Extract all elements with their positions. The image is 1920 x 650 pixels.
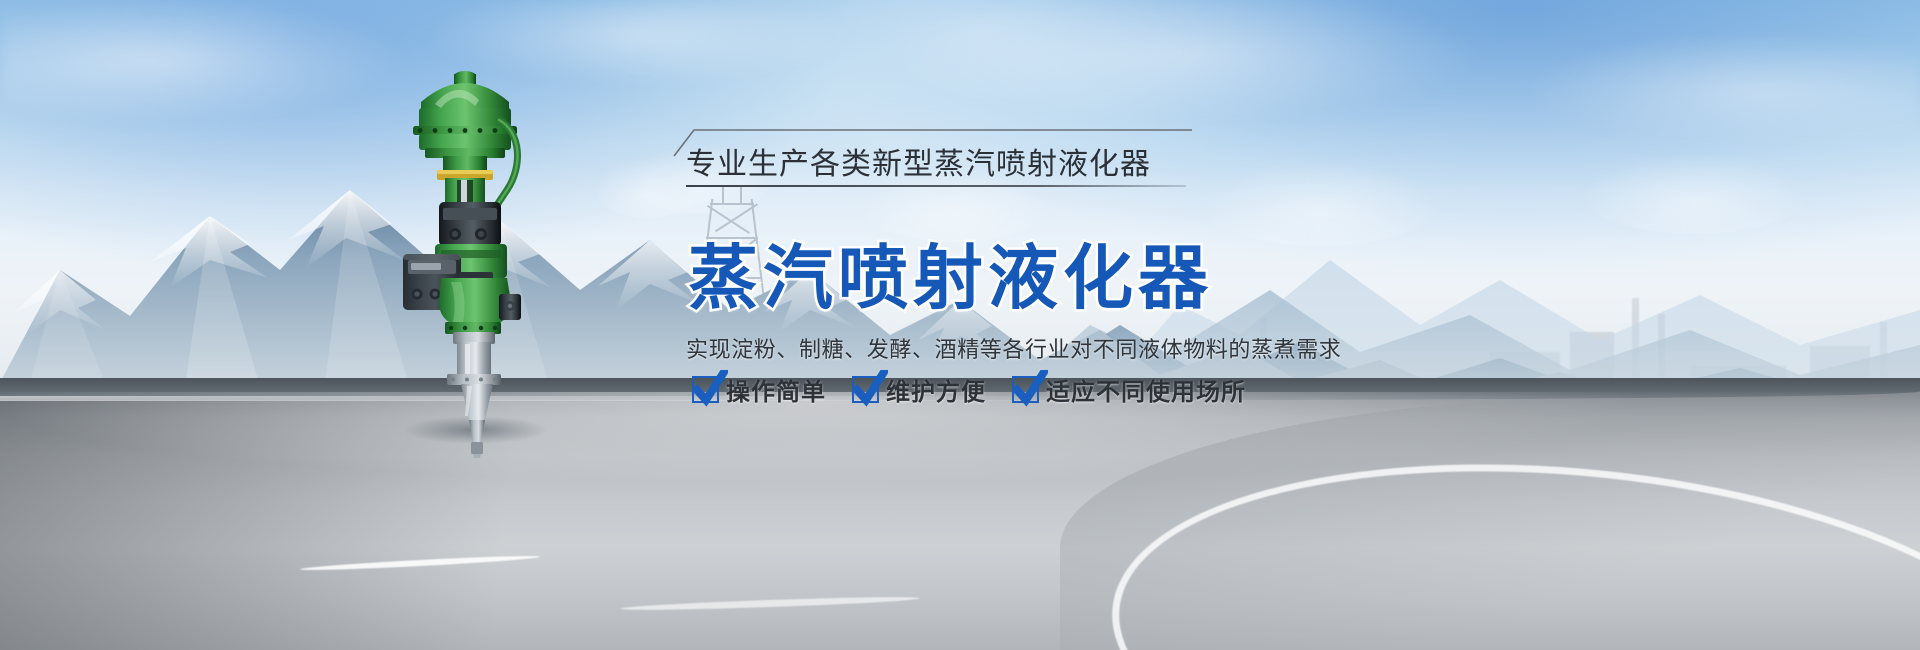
product-image-control-valve <box>395 58 585 458</box>
feature-item: 维护方便 <box>852 372 986 407</box>
check-icon <box>1012 376 1039 403</box>
banner-subtitle: 专业生产各类新型蒸汽喷射液化器 <box>686 139 1151 183</box>
feature-label: 适应不同使用场所 <box>1046 372 1246 407</box>
banner-description: 实现淀粉、制糖、发酵、酒精等各行业对不同液体物料的蒸煮需求 <box>686 332 1341 364</box>
feature-item: 适应不同使用场所 <box>1012 372 1246 407</box>
feature-label: 维护方便 <box>886 372 986 407</box>
check-icon <box>692 376 719 403</box>
check-icon <box>852 376 879 403</box>
feature-list: 操作简单 维护方便 适应不同使用场所 <box>692 372 1246 407</box>
title-divider <box>686 185 1186 187</box>
promo-banner: 专业生产各类新型蒸汽喷射液化器 蒸汽喷射液化器 实现淀粉、制糖、发酵、酒精等各行… <box>0 0 1920 650</box>
feature-label: 操作简单 <box>726 372 826 407</box>
feature-item: 操作简单 <box>692 372 826 407</box>
banner-title: 蒸汽喷射液化器 <box>688 243 1213 313</box>
